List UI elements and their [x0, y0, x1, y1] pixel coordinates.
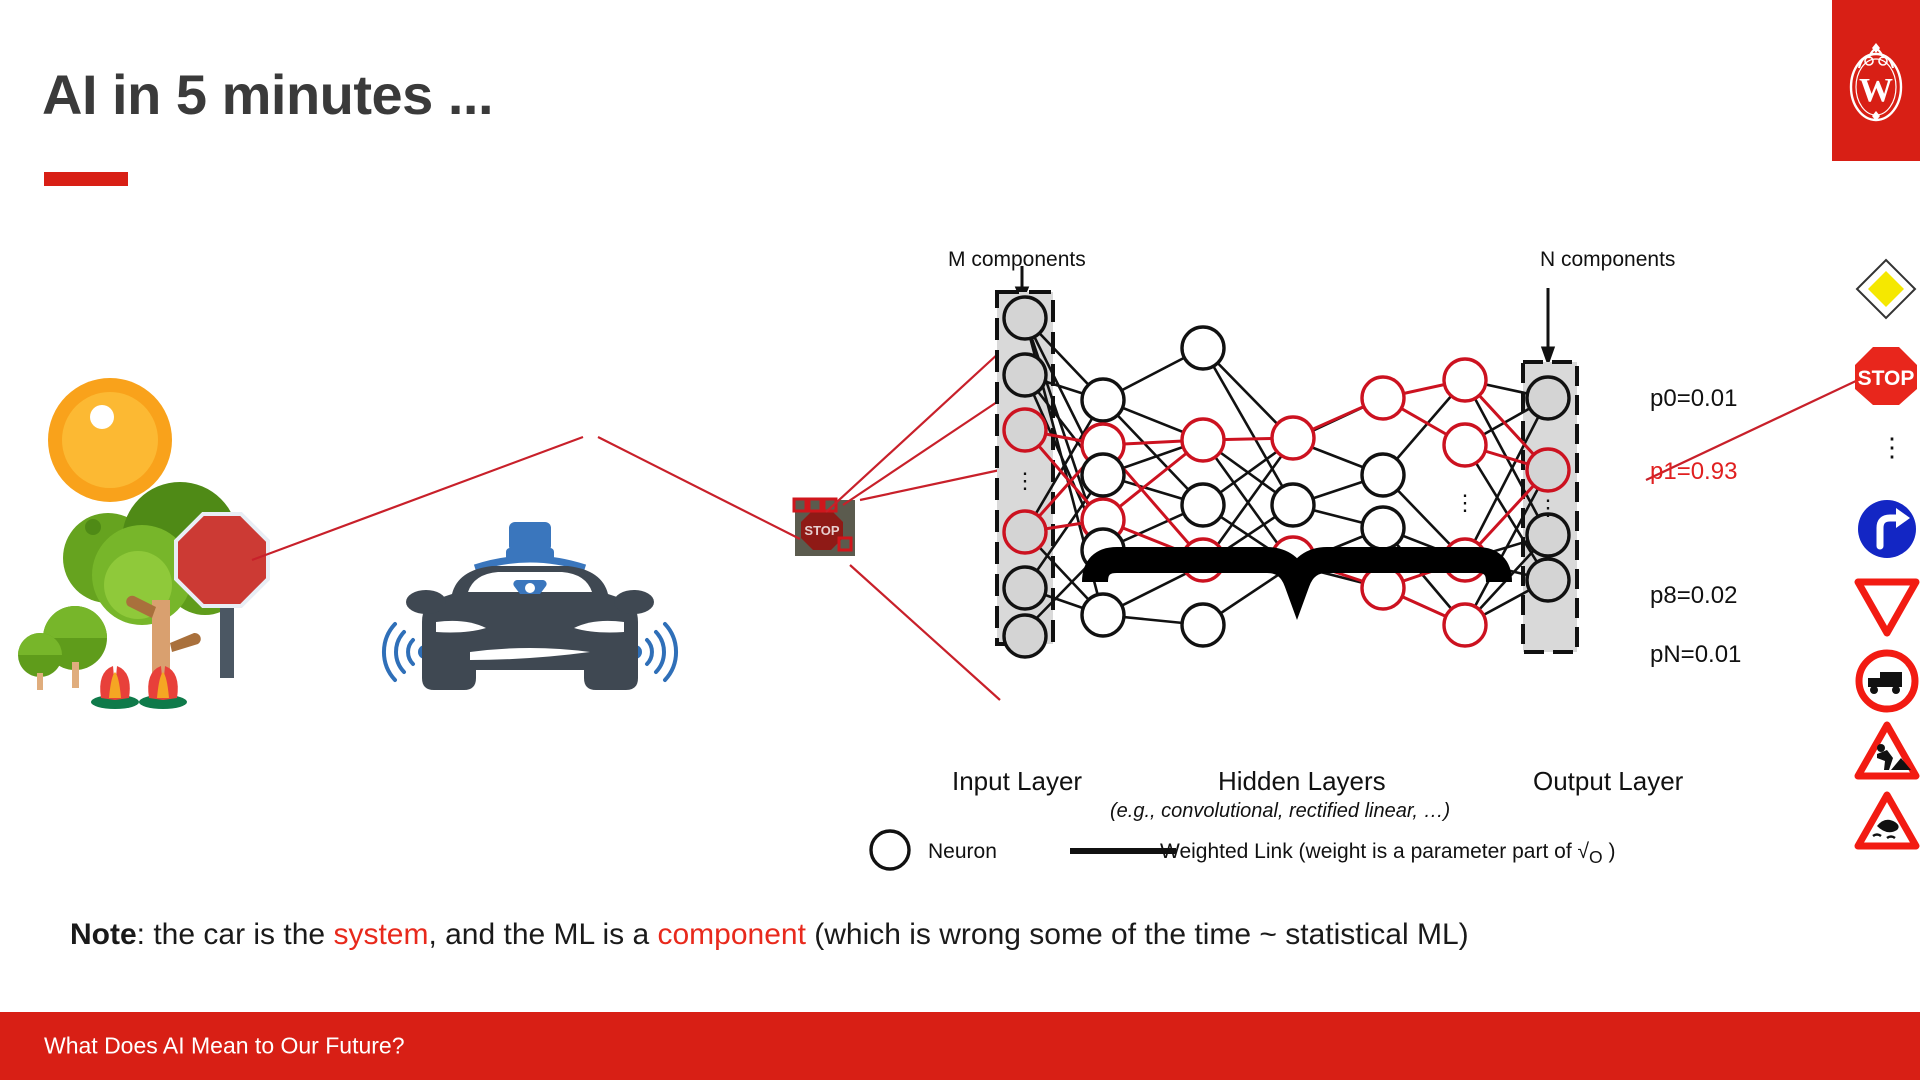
theta-glyph: √ [1578, 840, 1590, 863]
slide-canvas: AI in 5 minutes ... W [0, 0, 1920, 1080]
hidden-layer-sublabel: (e.g., convolutional, rectified linear, … [1110, 800, 1450, 823]
footer-bar: What Does AI Mean to Our Future? [0, 1012, 1920, 1080]
svg-text:⋮: ⋮ [1014, 468, 1036, 493]
sign-ellipsis: ⋮ [1879, 432, 1905, 463]
legend-link-tail: ) [1603, 840, 1616, 863]
priority-road-sign-icon [1855, 258, 1917, 320]
legend-link-text: Weighted Link (weight is a parameter par… [1160, 840, 1578, 863]
slippery-road-sign-icon [1855, 792, 1919, 850]
legend-link-label: Weighted Link (weight is a parameter par… [1160, 840, 1615, 868]
roadworks-sign-icon [1855, 722, 1919, 780]
note-line: Note: the car is the system, and the ML … [70, 918, 1469, 952]
stop-sign-icon-list: STOP [1853, 345, 1919, 407]
note-highlight-system: system [333, 918, 428, 951]
input-components-annotation: M components [948, 248, 1086, 272]
legend-neuron-label: Neuron [928, 840, 997, 864]
legend-neuron-icon [868, 828, 912, 872]
footer-title: What Does AI Mean to Our Future? [44, 1033, 405, 1060]
input-layer-label: Input Layer [952, 766, 1082, 797]
output-label-p1: p1=0.93 [1650, 458, 1737, 486]
output-layer-label: Output Layer [1533, 766, 1683, 797]
note-part2: , and the ML is a [428, 918, 657, 951]
note-lead: Note [70, 918, 137, 951]
note-highlight-component: component [657, 918, 805, 951]
theta-subscript: O [1589, 847, 1603, 867]
svg-text:⋮: ⋮ [1537, 495, 1559, 520]
neural-network-diagram: ⋮ ⋮ [975, 270, 1645, 690]
output-label-p8: p8=0.02 [1650, 582, 1737, 610]
turn-right-sign-icon [1856, 498, 1918, 560]
hidden-layer-label: Hidden Layers [1218, 766, 1386, 797]
no-trucks-sign-icon [1856, 650, 1918, 712]
note-part1: : the car is the [137, 918, 334, 951]
svg-text:⋮: ⋮ [1454, 490, 1476, 515]
output-components-annotation: N components [1540, 248, 1675, 272]
output-label-pN: pN=0.01 [1650, 641, 1741, 669]
svg-text:STOP: STOP [1858, 367, 1915, 390]
output-label-p0: p0=0.01 [1650, 385, 1737, 413]
yield-sign-icon [1855, 578, 1919, 636]
note-part3: (which is wrong some of the time ~ stati… [806, 918, 1469, 951]
